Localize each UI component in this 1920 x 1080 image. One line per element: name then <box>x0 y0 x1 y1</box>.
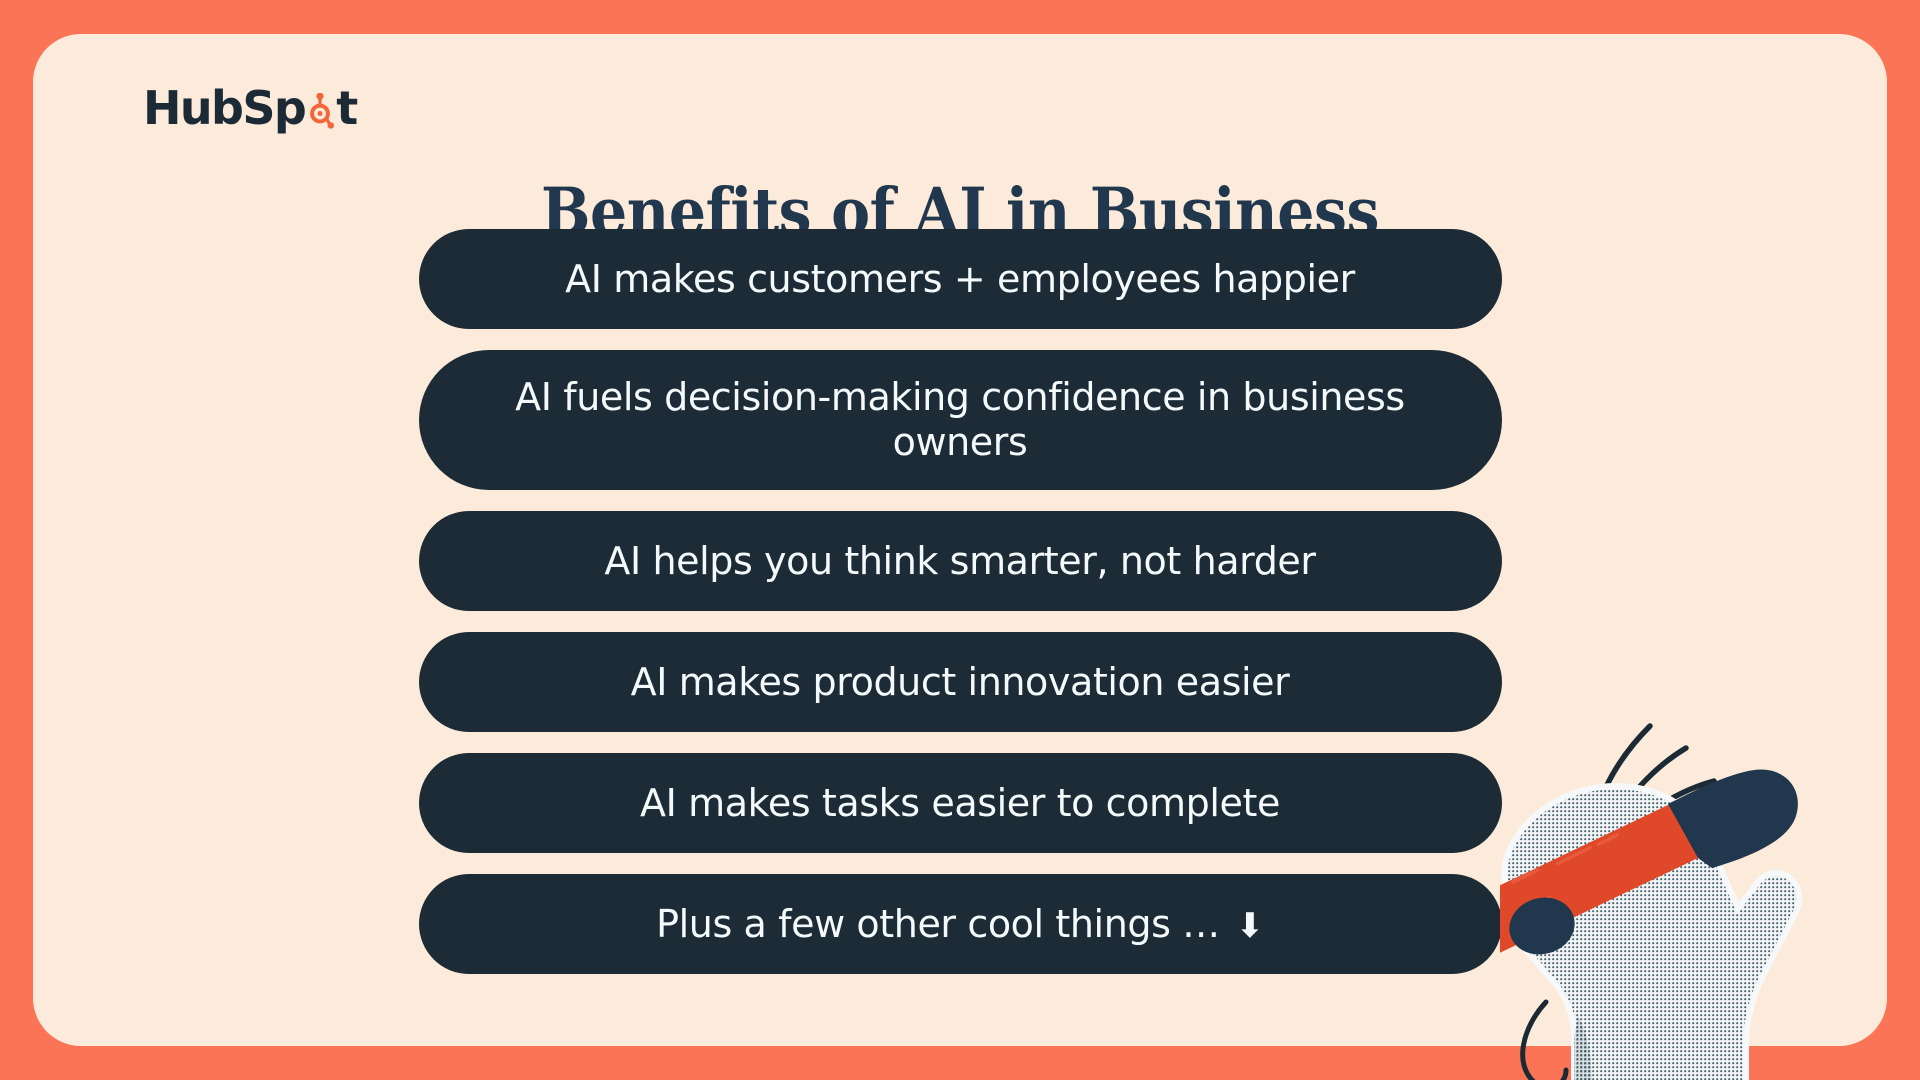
benefit-label-5: AI makes tasks easier to complete <box>640 781 1280 826</box>
list-item: AI makes customers + employees happier <box>419 229 1502 329</box>
infographic-canvas: HubSp t Benefits of AI in Business AI ma… <box>0 0 1920 1080</box>
benefit-label-4: AI makes product innovation easier <box>631 660 1290 705</box>
list-item: AI helps you think smarter, not harder <box>419 511 1502 611</box>
benefit-label-6: Plus a few other cool things … <box>656 902 1220 947</box>
list-item: AI makes tasks easier to complete <box>419 753 1502 853</box>
logo-text-hubsp: HubSp <box>143 85 305 131</box>
hubspot-sprocket-icon <box>302 93 338 129</box>
benefit-label-3: AI helps you think smarter, not harder <box>604 539 1315 584</box>
arrow-down-icon: ⬇ <box>1236 909 1264 943</box>
content-panel: HubSp t Benefits of AI in Business AI ma… <box>33 34 1887 1046</box>
benefit-label-1: AI makes customers + employees happier <box>565 257 1355 302</box>
list-item: Plus a few other cool things …⬇ <box>419 874 1502 974</box>
benefits-list: AI makes customers + employees happier A… <box>33 229 1887 974</box>
list-item: AI makes product innovation easier <box>419 632 1502 732</box>
logo-text-t: t <box>336 85 356 131</box>
list-item: AI fuels decision-making confidence in b… <box>419 350 1502 490</box>
benefit-label-2: AI fuels decision-making confidence in b… <box>479 375 1442 465</box>
hubspot-logo: HubSp t <box>143 80 357 136</box>
